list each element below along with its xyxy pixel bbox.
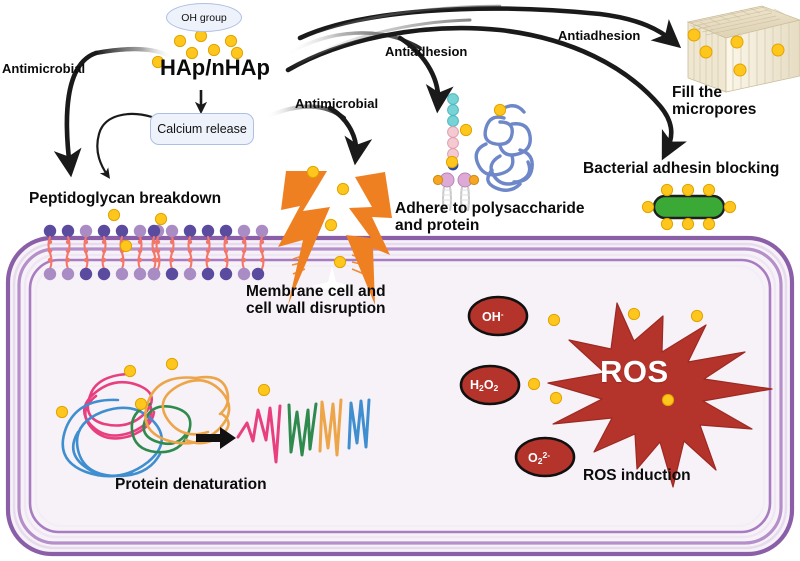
arrow-label-antimicrobial-mid: Antimicrobial xyxy=(295,97,378,112)
calcium-release-box: Calcium release xyxy=(150,113,254,145)
outcome-fill-micropores: Fill the micropores xyxy=(672,84,800,119)
figure-canvas: HAp/nHAp OH group Calcium release Antimi… xyxy=(0,0,800,561)
lipopolysaccharide-chain-icon xyxy=(433,94,478,211)
outcome-membrane-disruption: Membrane cell and cell wall disruption xyxy=(246,283,386,318)
arrow-label-antiadhesion-mid: Antiadhesion xyxy=(385,45,467,60)
ros-burst-label: ROS xyxy=(600,354,669,390)
arrow-label-antimicrobial-left: Antimicrobial xyxy=(2,62,85,77)
outcome-ros-induction: ROS induction xyxy=(583,467,691,484)
ros-species-peroxide: H2O2 xyxy=(470,378,498,393)
arrow-calcium-curve xyxy=(97,114,152,176)
ros-species-superoxide: O22- xyxy=(528,450,550,466)
oh-group-callout: OH group xyxy=(166,3,242,32)
outcome-peptidoglycan-breakdown: Peptidoglycan breakdown xyxy=(29,190,221,207)
ros-species-hydroxyl: OH- xyxy=(482,309,504,324)
hap-node-label: HAp/nHAp xyxy=(160,56,270,81)
outcome-protein-denaturation: Protein denaturation xyxy=(115,476,267,493)
rod-bacterium-icon xyxy=(654,196,724,218)
protein-coil-icon xyxy=(476,106,532,191)
arrow-label-antiadhesion-right: Antiadhesion xyxy=(558,29,640,44)
outcome-adhesin-blocking: Bacterial adhesin blocking xyxy=(583,160,779,177)
arrow-antimicrobial-mid xyxy=(266,107,356,156)
outcome-adhere-polysaccharide: Adhere to polysaccharide and protein xyxy=(395,200,585,235)
